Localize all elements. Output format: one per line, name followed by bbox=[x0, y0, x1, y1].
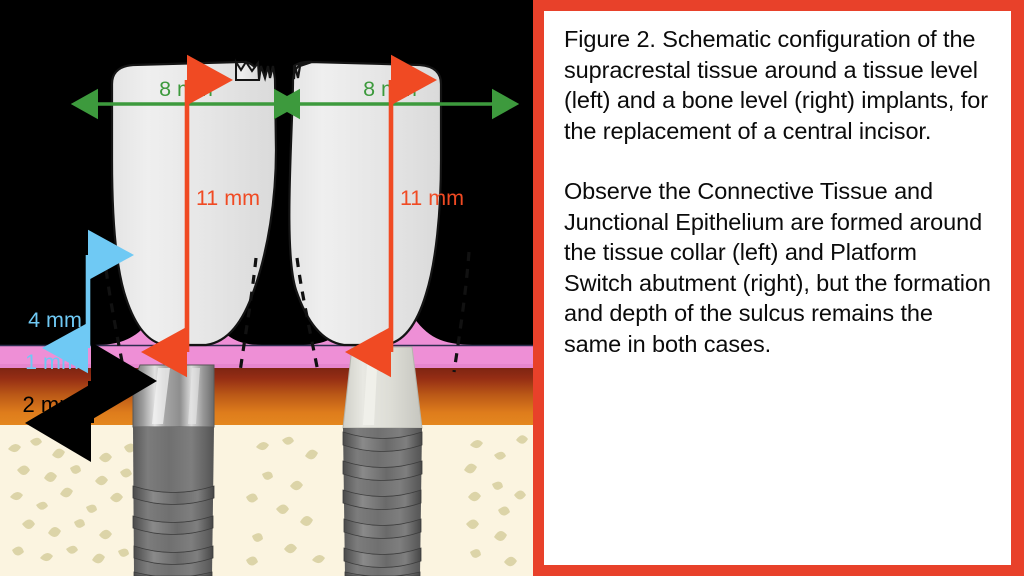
gingiva-base-shadow bbox=[0, 364, 533, 368]
measure-label: 11 mm bbox=[400, 186, 464, 210]
bone-level-implant bbox=[343, 347, 422, 576]
connective-tissue-band bbox=[0, 368, 533, 425]
measure-label: 1 mm bbox=[25, 350, 79, 374]
figure-screenshot: 8 mm 8 mm 11 mm 11 mm bbox=[0, 0, 1024, 576]
measure-gingival-band: 1 mm bbox=[25, 350, 79, 374]
platform-switch-abutment bbox=[343, 347, 422, 428]
caption-paragraph-1: Figure 2. Schematic configuration of the… bbox=[564, 24, 991, 146]
measure-label: 4 mm bbox=[28, 308, 82, 332]
implant-collar-polished bbox=[133, 365, 214, 427]
caption-paragraph-2: Observe the Connective Tissue and Juncti… bbox=[564, 176, 991, 359]
caption-panel: Figure 2. Schematic configuration of the… bbox=[533, 0, 1024, 576]
dental-implant-schematic: 8 mm 8 mm 11 mm 11 mm bbox=[0, 0, 533, 576]
measure-label: 2 mm bbox=[23, 392, 78, 417]
measure-label: 11 mm bbox=[196, 186, 260, 210]
caption-box: Figure 2. Schematic configuration of the… bbox=[544, 11, 1011, 565]
tissue-level-implant bbox=[133, 365, 214, 576]
caption-paragraph-spacer bbox=[564, 146, 991, 176]
